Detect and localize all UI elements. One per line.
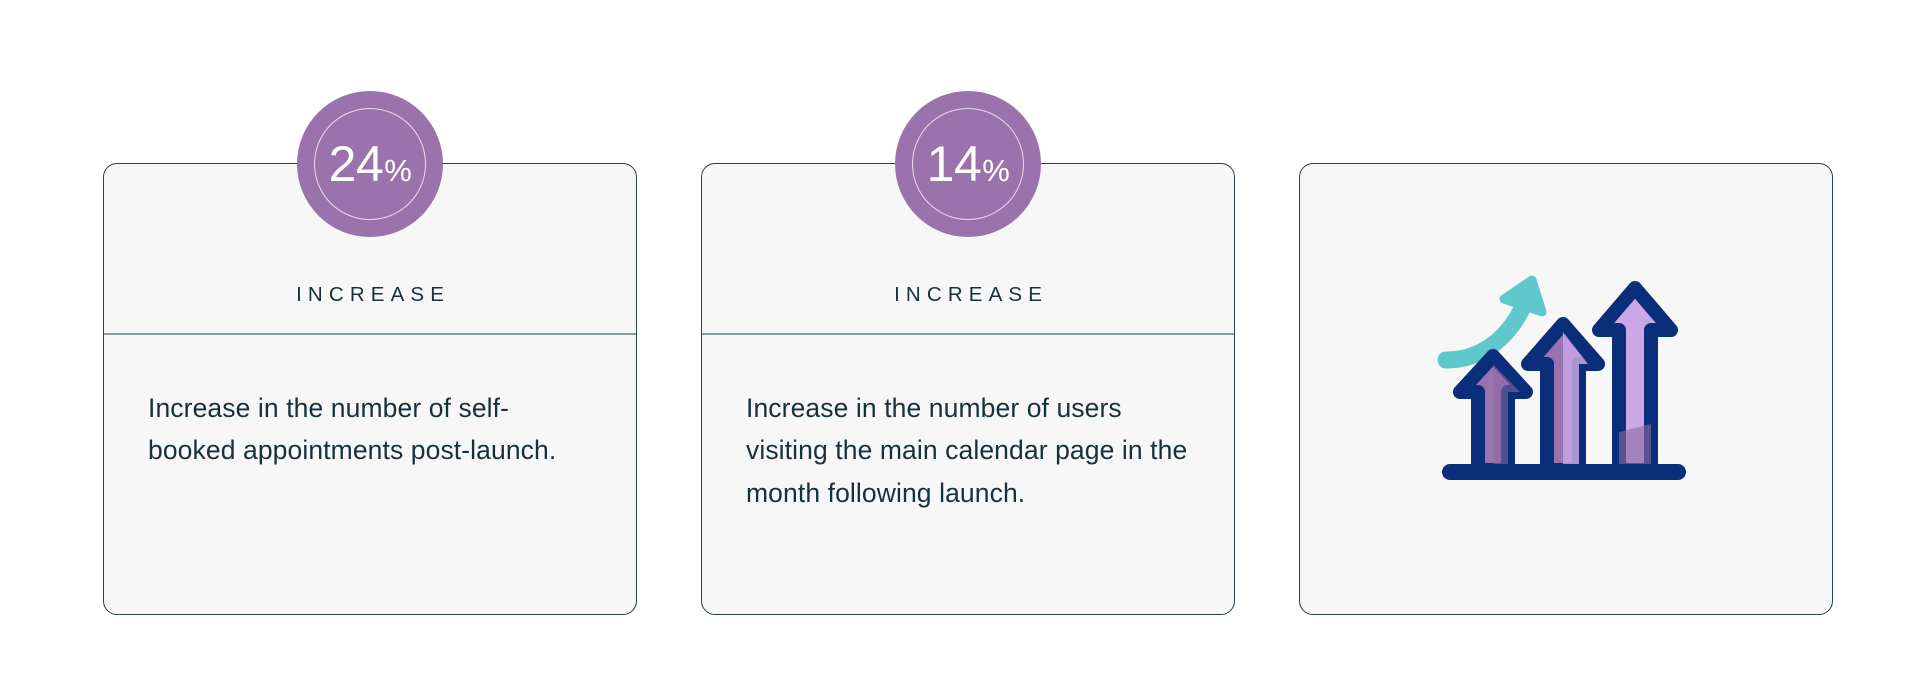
badge-percent-sign-2: % [982, 155, 1009, 186]
stat-card-2: 14% INCREASE Increase in the number of u… [701, 163, 1235, 615]
curved-trend-arrow-icon [1446, 280, 1542, 360]
card-1-label: INCREASE [290, 285, 450, 306]
badge-value-2: 14% [927, 139, 1010, 189]
cards-row: 24% INCREASE Increase in the number of s… [103, 163, 1833, 615]
stats-cards-panel: 24% INCREASE Increase in the number of s… [0, 0, 1920, 700]
badge-percent-sign-1: % [384, 155, 411, 186]
bar-arrow-tall [1599, 288, 1671, 470]
bar-arrow-medium [1528, 324, 1598, 470]
badge-number-1: 24 [329, 139, 384, 189]
card-2-body: Increase in the number of users visiting… [702, 335, 1234, 615]
card-2-label: INCREASE [888, 285, 1048, 306]
card-1-body: Increase in the number of self-booked ap… [104, 335, 636, 615]
stat-card-1: 24% INCREASE Increase in the number of s… [103, 163, 637, 615]
bar-arrow-short [1460, 356, 1526, 470]
card-1-description: Increase in the number of self-booked ap… [148, 387, 592, 473]
growth-bar-chart-arrows-icon [1436, 274, 1696, 504]
badge-value-1: 24% [329, 139, 412, 189]
baseline [1442, 464, 1686, 480]
card-2-description: Increase in the number of users visiting… [746, 387, 1190, 516]
stat-card-3 [1299, 163, 1833, 615]
badge-number-2: 14 [927, 139, 982, 189]
percentage-badge-2: 14% [895, 91, 1041, 237]
percentage-badge-1: 24% [297, 91, 443, 237]
